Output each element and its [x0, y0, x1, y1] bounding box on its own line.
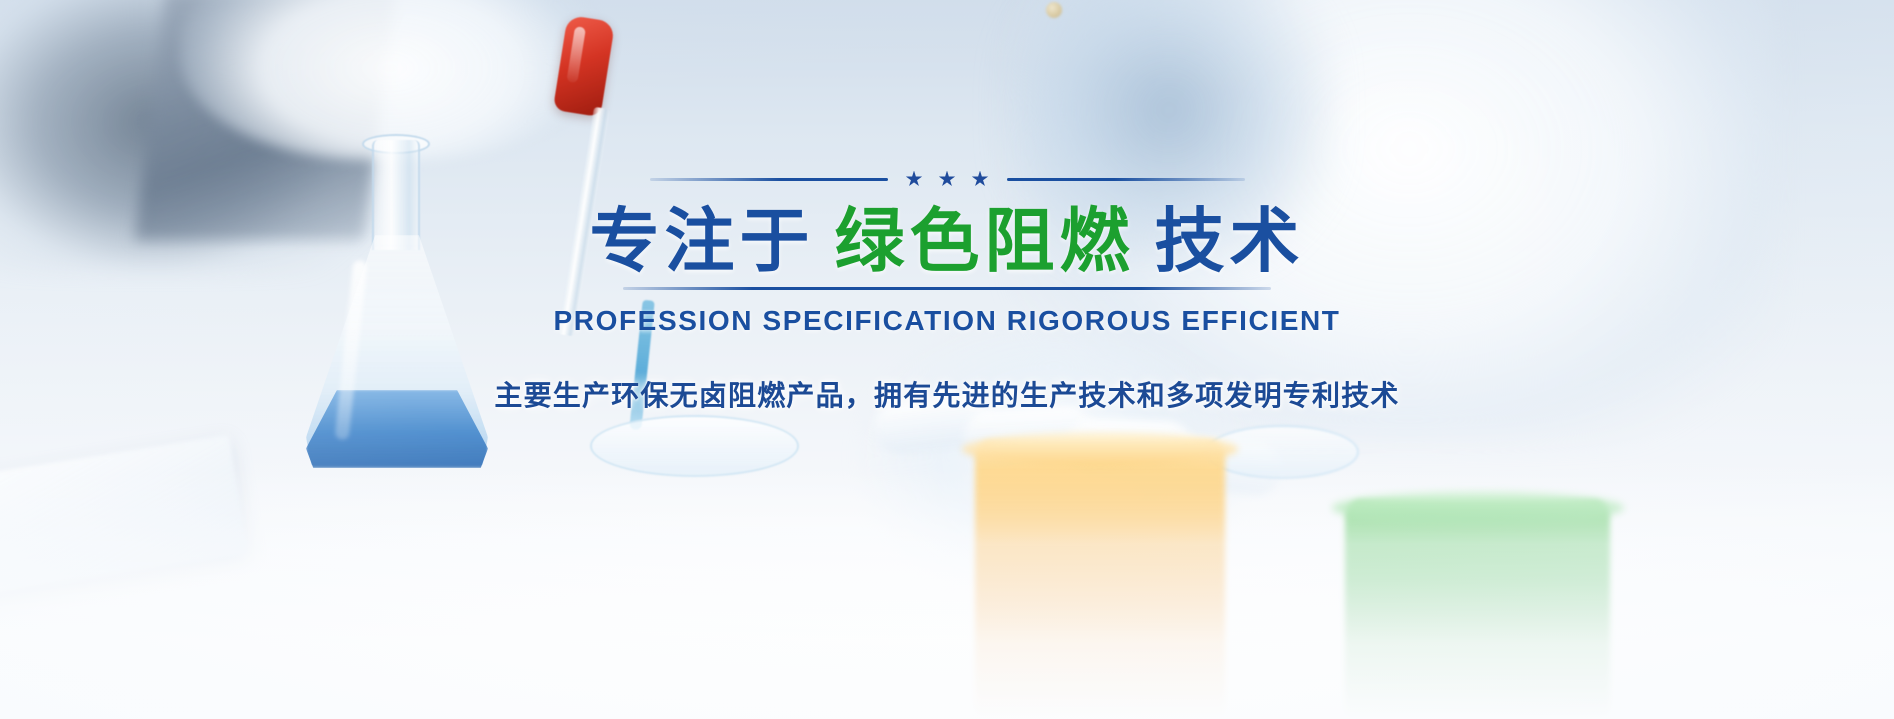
divider-line-left [650, 178, 888, 181]
headline-underline [623, 287, 1271, 290]
description-text: 主要生产环保无卤阻燃产品，拥有先进的生产技术和多项发明专利技术 [0, 374, 1894, 414]
lab-bench-surface [0, 469, 1894, 719]
shirt-button-icon [1046, 2, 1062, 18]
star-icon [906, 171, 923, 188]
headline-part-2: 绿色阻燃 [835, 202, 1135, 280]
hero-content: 专注于绿色阻燃技术 PROFESSION SPECIFICATION RIGOR… [0, 168, 1894, 414]
decorative-divider [0, 168, 1894, 190]
hero-banner: 专注于绿色阻燃技术 PROFESSION SPECIFICATION RIGOR… [0, 0, 1894, 719]
star-icon [972, 171, 989, 188]
subtitle-english: PROFESSION SPECIFICATION RIGOROUS EFFICI… [0, 305, 1894, 337]
headline-part-1: 专注于 [590, 202, 815, 280]
star-icon [939, 171, 956, 188]
headline-part-3: 技术 [1155, 202, 1305, 280]
orange-beaker-rim [962, 432, 1238, 466]
petri-dish-icon [590, 415, 799, 477]
star-group [906, 171, 989, 188]
divider-line-right [1007, 178, 1245, 181]
headline: 专注于绿色阻燃技术 [0, 204, 1894, 278]
